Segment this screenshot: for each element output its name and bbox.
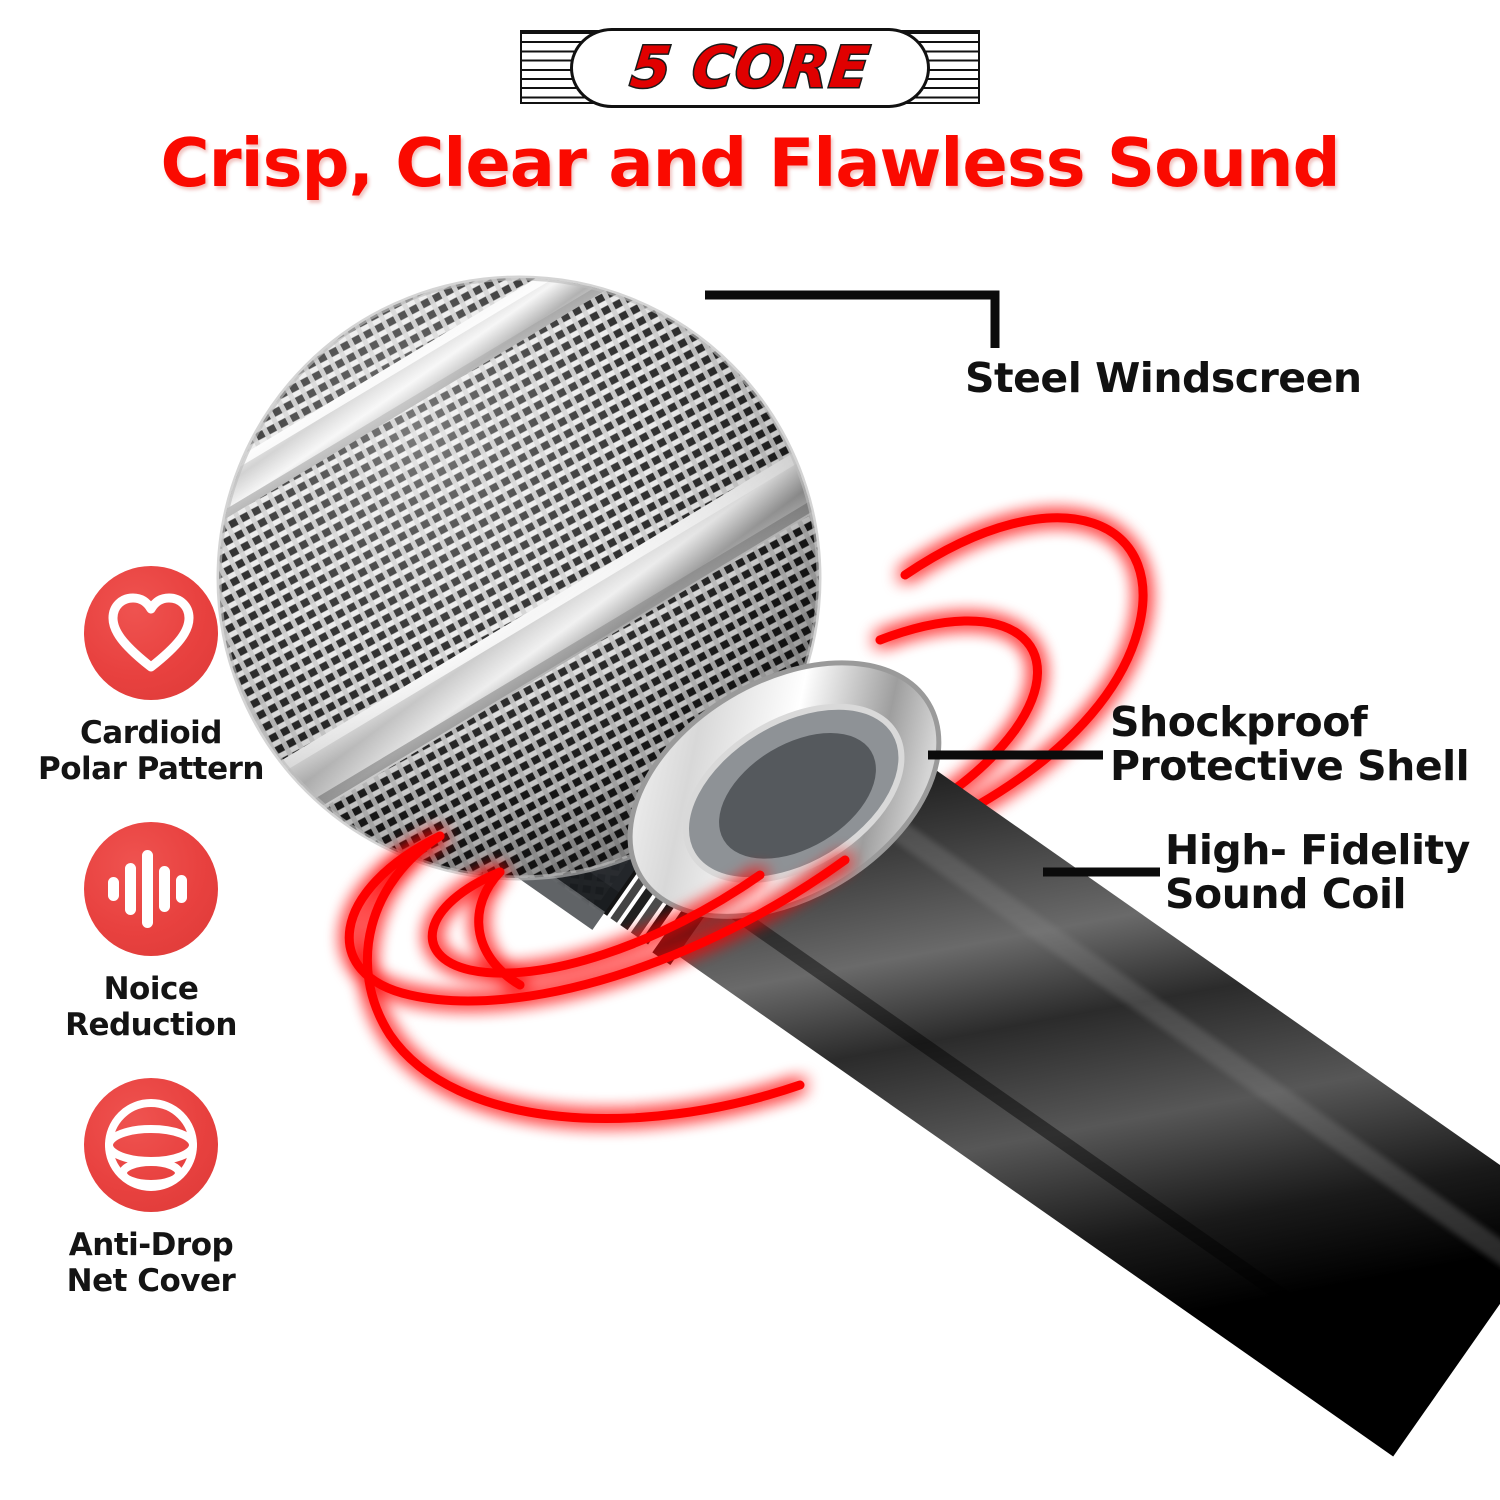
callout-high-fidelity-sound-coil: High- Fidelity Sound Coil xyxy=(1165,828,1470,917)
audio-waveform-icon xyxy=(104,846,198,932)
feature-caption: Cardioid Polar Pattern xyxy=(28,716,274,788)
heart-icon xyxy=(105,587,197,679)
callout-line: Protective Shell xyxy=(1110,744,1469,788)
callout-shockproof-protective-shell: Shockproof Protective Shell xyxy=(1110,700,1469,789)
feature-anti-drop-net-cover: Anti-Drop Net Cover xyxy=(28,1078,274,1300)
feature-icon-disc xyxy=(84,566,218,700)
feature-caption-line: Reduction xyxy=(28,1008,274,1044)
mesh-globe-icon xyxy=(101,1095,201,1195)
feature-caption-line: Net Cover xyxy=(28,1264,274,1300)
infographic-canvas: 5 CORE Crisp, Clear and Flawless Sound xyxy=(0,0,1500,1500)
callout-line: Steel Windscreen xyxy=(965,356,1362,400)
feature-caption: Noice Reduction xyxy=(28,972,274,1044)
feature-icon-disc xyxy=(84,1078,218,1212)
callout-steel-windscreen: Steel Windscreen xyxy=(965,356,1362,400)
feature-caption-line: Polar Pattern xyxy=(28,752,274,788)
feature-caption: Anti-Drop Net Cover xyxy=(28,1228,274,1300)
callout-line: Sound Coil xyxy=(1165,872,1470,916)
leader-steel-windscreen xyxy=(705,295,995,348)
feature-icon-disc xyxy=(84,822,218,956)
feature-cardioid-polar-pattern: Cardioid Polar Pattern xyxy=(28,566,274,788)
feature-caption-line: Anti-Drop xyxy=(28,1228,274,1264)
callout-line: High- Fidelity xyxy=(1165,828,1470,872)
callout-line: Shockproof xyxy=(1110,700,1469,744)
feature-noice-reduction: Noice Reduction xyxy=(28,822,274,1044)
feature-caption-line: Noice xyxy=(28,972,274,1008)
feature-caption-line: Cardioid xyxy=(28,716,274,752)
